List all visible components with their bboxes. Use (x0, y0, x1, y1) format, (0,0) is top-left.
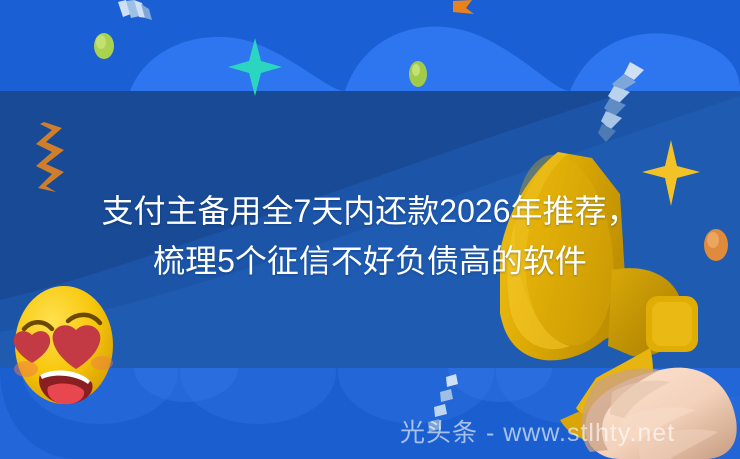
poster-banner: 支付主备用全7天内还款2026年推荐， 梳理5个征信不好负债高的软件 光头条 -… (0, 0, 740, 459)
headline-line-1: 支付主备用全7天内还款2026年推荐， (0, 186, 740, 236)
heart-eyes-emoji (10, 283, 118, 407)
watermark: 光头条 - www.stlhty.net (400, 418, 740, 448)
page-title: 支付主备用全7天内还款2026年推荐， 梳理5个征信不好负债高的软件 (0, 186, 740, 286)
confetti-orange-zigzag-icon (36, 122, 64, 192)
sparkle-cyan-star-icon (228, 38, 282, 96)
ribbon-light-blue-top-icon (118, 0, 152, 20)
confetti-orange-arrow-icon (453, 0, 474, 14)
megaphone-illustration (500, 120, 740, 459)
headline-line-2: 梳理5个征信不好负债高的软件 (0, 236, 740, 286)
